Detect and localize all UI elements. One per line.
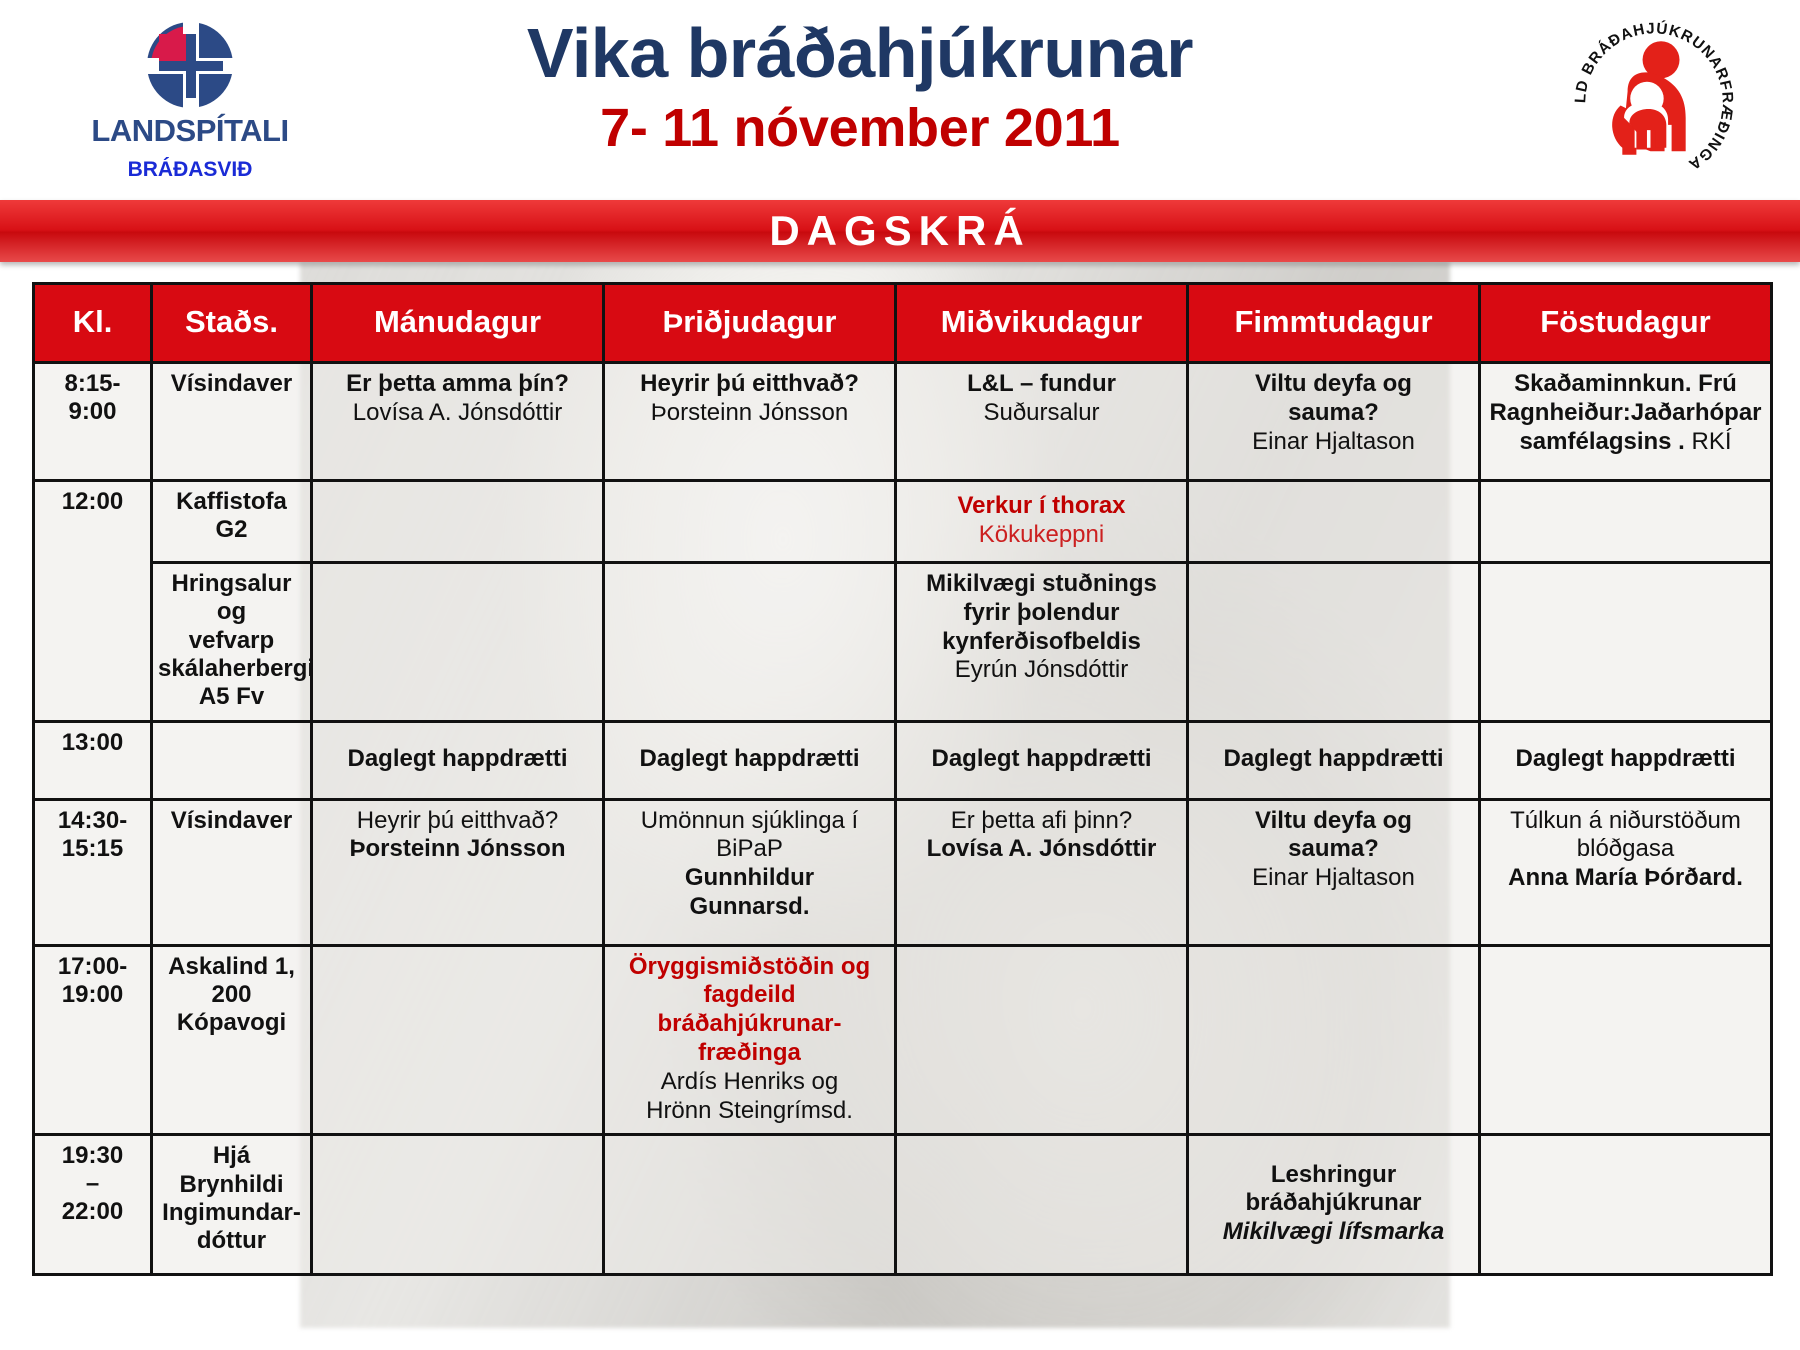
row-place-1300 <box>152 721 312 799</box>
session-wed-hringsalur: Mikilvægi stuðnings fyrir þolendur kynfe… <box>896 563 1188 722</box>
session-fri-1930 <box>1480 1135 1772 1275</box>
landspitali-logo: LANDSPÍTALI BRÁÐASVIÐ <box>40 22 340 182</box>
row-place-askalind: Askalind 1, 200 Kópavogi <box>152 945 312 1135</box>
session-wed-1930 <box>896 1135 1188 1275</box>
row-time-0815: 8:15- 9:00 <box>34 363 152 481</box>
dagskra-banner: DAGSKRÁ <box>0 200 1800 262</box>
row-time-1300: 13:00 <box>34 721 152 799</box>
table-row: 8:15- 9:00 Vísindaver Er þetta amma þín?… <box>34 363 1772 481</box>
row-place-visindaver-2: Vísindaver <box>152 799 312 945</box>
table-row: 14:30- 15:15 Vísindaver Heyrir þú eitthv… <box>34 799 1772 945</box>
session-mon-0815: Er þetta amma þín? Lovísa A. Jónsdóttir <box>312 363 604 481</box>
landspitali-wordmark: LANDSPÍTALI <box>40 113 340 149</box>
page-header: LANDSPÍTALI BRÁÐASVIÐ Vika bráðahjúkruna… <box>0 0 1800 200</box>
session-thu-1430: Viltu deyfa og sauma? Einar Hjaltason <box>1188 799 1480 945</box>
lottery-mon: Daglegt happdrætti <box>312 721 604 799</box>
column-header-thursday: Fimmtudagur <box>1188 284 1480 363</box>
row-time-1930: 19:30 – 22:00 <box>34 1135 152 1275</box>
table-header-row: Kl. Staðs. Mánudagur Þriðjudagur Miðviku… <box>34 284 1772 363</box>
schedule-area: Kl. Staðs. Mánudagur Þriðjudagur Miðviku… <box>0 262 1800 1328</box>
schedule-table: Kl. Staðs. Mánudagur Þriðjudagur Miðviku… <box>32 282 1773 1276</box>
row-time-1200: 12:00 <box>34 481 152 722</box>
table-row: Hringsalur og vefvarp skálaherbergi A5 F… <box>34 563 1772 722</box>
lottery-tue: Daglegt happdrætti <box>604 721 896 799</box>
session-thu-0815: Viltu deyfa og sauma? Einar Hjaltason <box>1188 363 1480 481</box>
table-row: 13:00 Daglegt happdrætti Daglegt happdræ… <box>34 721 1772 799</box>
row-time-1700: 17:00- 19:00 <box>34 945 152 1135</box>
column-header-wednesday: Miðvikudagur <box>896 284 1188 363</box>
landspitali-department: BRÁÐASVIÐ <box>40 158 340 182</box>
lottery-thu: Daglegt happdrætti <box>1188 721 1480 799</box>
column-header-place: Staðs. <box>152 284 312 363</box>
session-tue-1700: Öryggismiðstöðin og fagdeild bráðahjúkru… <box>604 945 896 1135</box>
hospital-cross-logo-icon <box>147 22 233 108</box>
session-tue-hringsalur <box>604 563 896 722</box>
session-thu-1700 <box>1188 945 1480 1135</box>
page-title: Vika bráðahjúkrunar <box>360 18 1360 89</box>
session-wed-1700 <box>896 945 1188 1135</box>
banner-label: DAGSKRÁ <box>769 207 1030 255</box>
page-subtitle-dates: 7- 11 nóvember 2011 <box>360 97 1360 159</box>
session-tue-1930 <box>604 1135 896 1275</box>
column-header-friday: Föstudagur <box>1480 284 1772 363</box>
session-tue-0815: Heyrir þú eitthvað? Þorsteinn Jónsson <box>604 363 896 481</box>
row-place-kaffistofa: Kaffistofa G2 <box>152 481 312 563</box>
session-tue-1430: Umönnun sjúklinga í BiPaP Gunnhildur Gun… <box>604 799 896 945</box>
session-mon-1200 <box>312 481 604 563</box>
fagdeild-logo: FAGDEILD BRÁÐAHJÚKRUNARFRÆÐINGA <box>1566 14 1742 190</box>
parent-child-figure-logo-icon: FAGDEILD BRÁÐAHJÚKRUNARFRÆÐINGA <box>1566 14 1742 190</box>
session-thu-1930: Leshringur bráðahjúkrunar Mikilvægi lífs… <box>1188 1135 1480 1275</box>
column-header-time: Kl. <box>34 284 152 363</box>
session-mon-1930 <box>312 1135 604 1275</box>
lottery-wed: Daglegt happdrætti <box>896 721 1188 799</box>
lottery-fri: Daglegt happdrætti <box>1480 721 1772 799</box>
session-thu-1200 <box>1188 481 1480 563</box>
row-place-visindaver: Vísindaver <box>152 363 312 481</box>
session-thu-hringsalur <box>1188 563 1480 722</box>
column-header-monday: Mánudagur <box>312 284 604 363</box>
session-fri-0815: Skaðaminnkun. Frú Ragnheiður:Jaðarhópar … <box>1480 363 1772 481</box>
row-place-brynhildur: Hjá Brynhildi Ingimundar- dóttur <box>152 1135 312 1275</box>
row-time-1430: 14:30- 15:15 <box>34 799 152 945</box>
session-mon-hringsalur <box>312 563 604 722</box>
session-mon-1430: Heyrir þú eitthvað? Þorsteinn Jónsson <box>312 799 604 945</box>
session-wed-1430: Er þetta afi þinn? Lovísa A. Jónsdóttir <box>896 799 1188 945</box>
session-fri-hringsalur <box>1480 563 1772 722</box>
session-fri-1700 <box>1480 945 1772 1135</box>
session-fri-1430: Túlkun á niðurstöðum blóðgasa Anna María… <box>1480 799 1772 945</box>
column-header-tuesday: Þriðjudagur <box>604 284 896 363</box>
table-row: 17:00- 19:00 Askalind 1, 200 Kópavogi Ör… <box>34 945 1772 1135</box>
session-fri-1200 <box>1480 481 1772 563</box>
session-tue-1200 <box>604 481 896 563</box>
session-mon-1700 <box>312 945 604 1135</box>
row-place-hringsalur: Hringsalur og vefvarp skálaherbergi A5 F… <box>152 563 312 722</box>
table-row: 19:30 – 22:00 Hjá Brynhildi Ingimundar- … <box>34 1135 1772 1275</box>
session-wed-0815: L&L – fundur Suðursalur <box>896 363 1188 481</box>
session-wed-1200: Verkur í thorax Kökukeppni <box>896 481 1188 563</box>
title-block: Vika bráðahjúkrunar 7- 11 nóvember 2011 <box>360 18 1360 159</box>
table-row: 12:00 Kaffistofa G2 Verkur í thorax Köku… <box>34 481 1772 563</box>
